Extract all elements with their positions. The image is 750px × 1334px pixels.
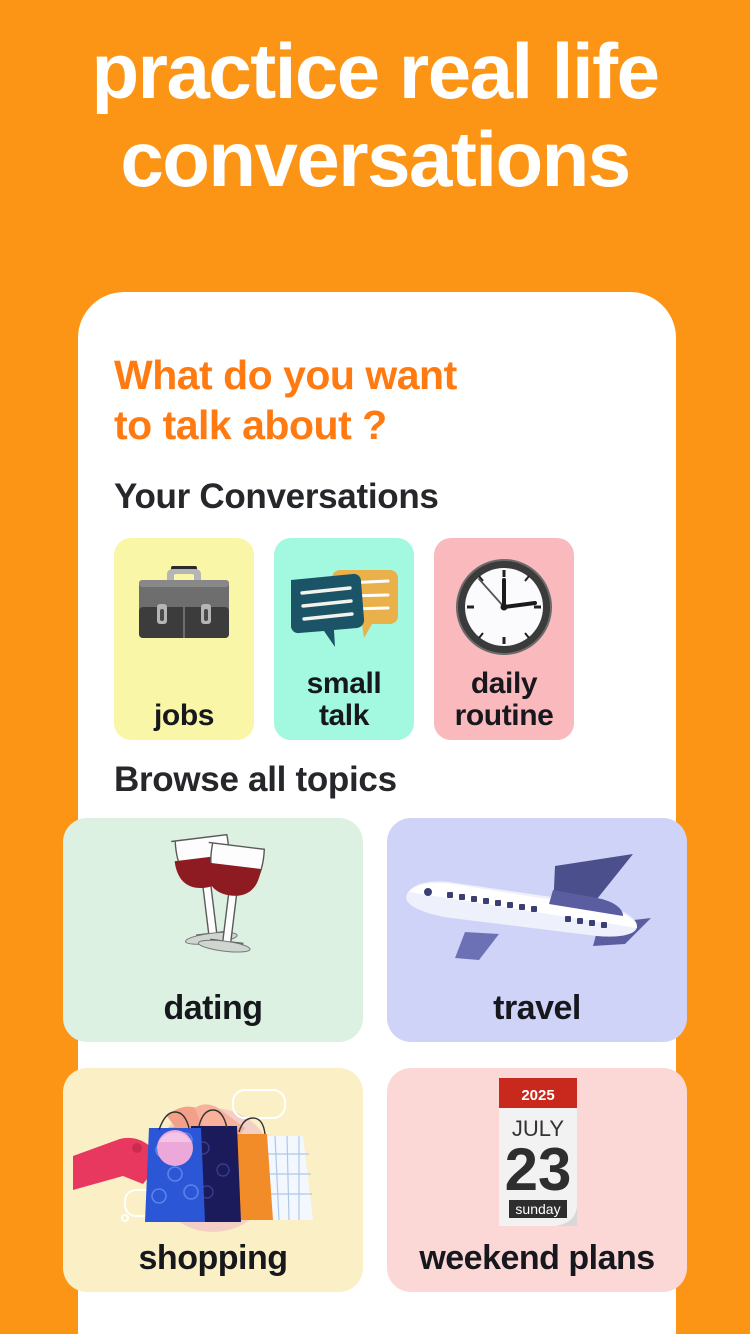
your-conversations-list: jobs [114,538,574,740]
section-heading-browse-all-topics: Browse all topics [114,760,397,800]
card-title-line-1: What do you want [114,350,634,400]
conversation-tile-small-talk[interactable]: small talk [274,538,414,740]
conversation-tile-label: small talk [274,668,414,732]
wine-glasses-icon [63,828,363,988]
calendar-weekday-text: sunday [515,1201,560,1217]
topic-card-label: shopping [139,1239,288,1278]
conversation-tile-label: daily routine [434,668,574,732]
app-screen: practice real life conversations What do… [0,0,750,1334]
section-heading-your-conversations: Your Conversations [114,477,439,517]
briefcase-icon [114,552,254,662]
shopping-bags-icon [63,1078,363,1238]
conversation-tile-label: jobs [150,700,218,732]
headline-line-2: conversations [0,122,750,196]
calendar-day-text: 23 [505,1136,572,1203]
browse-row: dating [0,818,750,1042]
browse-row: shopping 2025 JULY 23 sunday w [0,1068,750,1292]
calendar-icon: 2025 JULY 23 sunday [387,1078,687,1238]
calendar-year-text: 2025 [521,1087,554,1104]
topic-card-dating[interactable]: dating [63,818,363,1042]
page-headline: practice real life conversations [0,34,750,196]
card-title-line-2: to talk about ? [114,400,634,450]
headline-line-1: practice real life [0,34,750,108]
conversation-tile-jobs[interactable]: jobs [114,538,254,740]
topic-card-label: travel [493,989,581,1028]
card-title: What do you want to talk about ? [114,350,634,450]
conversation-tile-daily-routine[interactable]: daily routine [434,538,574,740]
topic-card-shopping[interactable]: shopping [63,1068,363,1292]
topic-card-weekend-plans[interactable]: 2025 JULY 23 sunday weekend plans [387,1068,687,1292]
speech-bubbles-icon [274,552,414,662]
topic-card-label: dating [164,989,263,1028]
clock-icon [434,552,574,662]
topic-card-travel[interactable]: travel [387,818,687,1042]
topic-card-label: weekend plans [419,1239,654,1278]
airplane-icon [387,828,687,988]
browse-topics-grid: dating [0,818,750,1292]
